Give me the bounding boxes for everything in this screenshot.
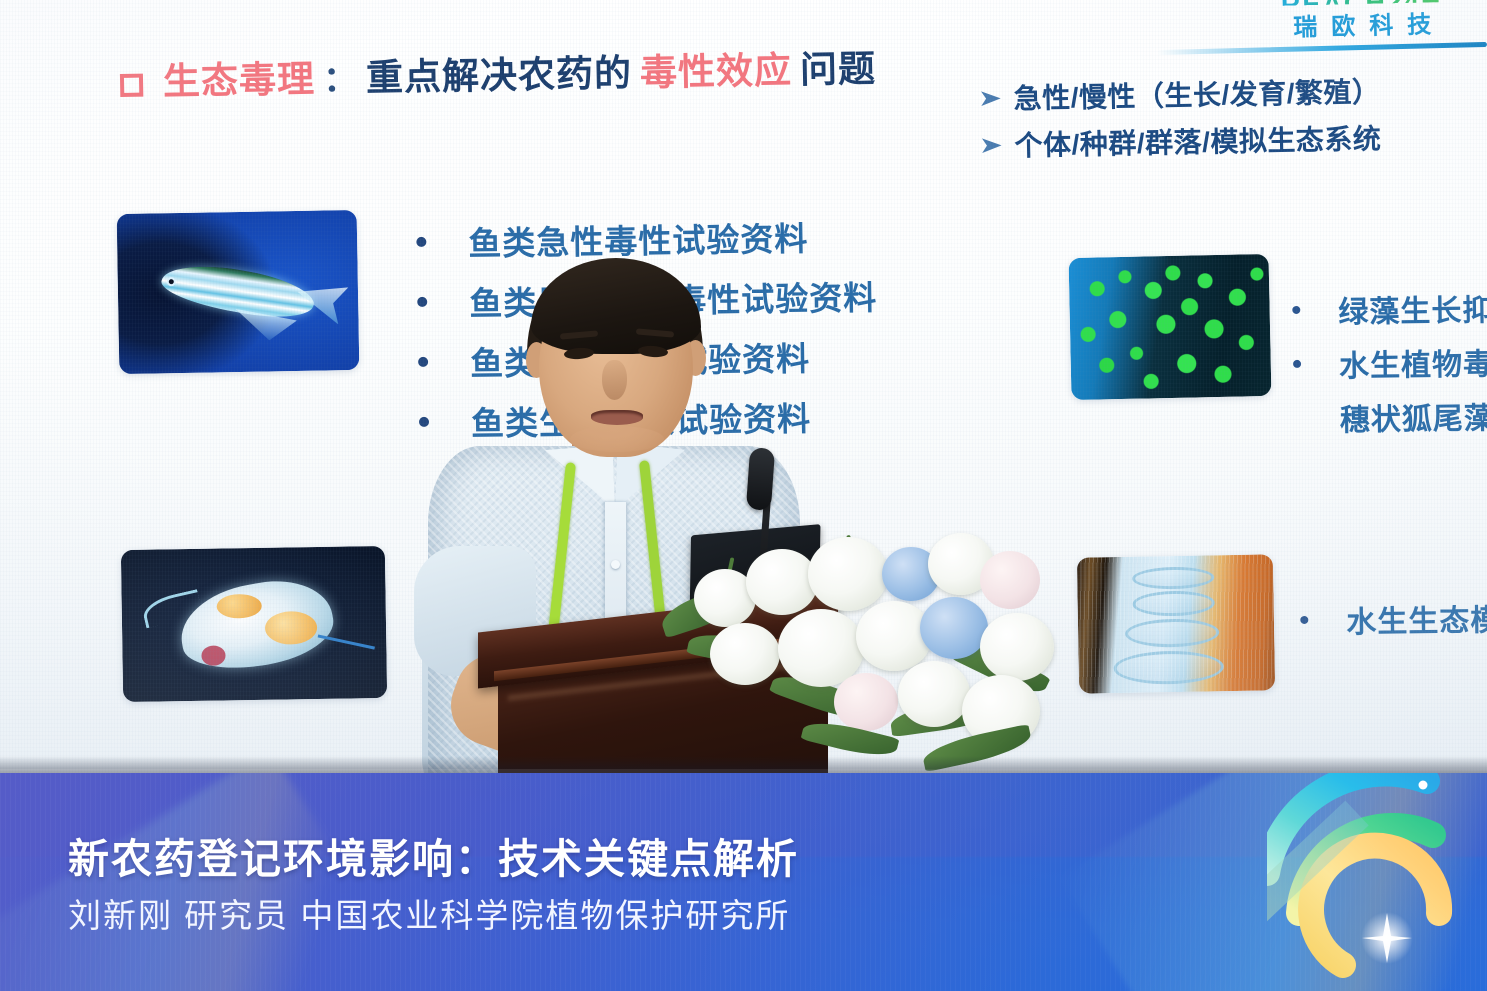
screen-scanline-overlay: [1077, 554, 1275, 693]
round-bullet-icon: [416, 237, 426, 247]
round-bullet-icon: [1300, 616, 1308, 624]
microphone-head-icon: [746, 447, 775, 511]
banner-subtitle: 刘新刚 研究员 中国农业科学院植物保护研究所: [68, 889, 790, 937]
flower-arrangement: [650, 505, 1070, 790]
list-item-label: 急性/慢性（生长/发育/繁殖）: [1013, 70, 1381, 117]
blue-flower: [920, 597, 988, 659]
aquatic-mesocosm-thumbnail: [1077, 554, 1275, 693]
arrow-bullet-icon: ➤: [979, 133, 1004, 156]
conference-presentation-screenshot: REACH24H 瑞欧科技 生态毒理 ： 重点解决农药的 毒性效应 问题 ➤ 急…: [0, 0, 1487, 991]
header-colon: ：: [323, 51, 359, 103]
slide-accent-rule: [1157, 42, 1487, 55]
square-bullet-icon: [120, 74, 143, 97]
daphnia-spine-shape: [318, 635, 375, 650]
mesocosm-photo: [1077, 554, 1275, 693]
white-flower: [746, 549, 818, 615]
algae-bullet-continuation: 穗状狐尾藻: [1294, 393, 1487, 440]
list-item: 绿藻生长抑: [1292, 285, 1487, 332]
arc-logo-svg: [1267, 773, 1487, 991]
logo-chinese-text: 瑞欧科技: [1279, 4, 1446, 43]
event-arc-logo: [1267, 773, 1487, 991]
banner-title: 新农药登记环境影响：技术关键点解析: [68, 825, 799, 885]
green-algae-photo: [1069, 254, 1272, 400]
list-item-label: 个体/种群/群落/模拟生态系统: [1014, 117, 1382, 164]
header-body-part2: 问题: [799, 38, 876, 93]
white-flower: [980, 613, 1054, 681]
green-algae-thumbnail: [1069, 254, 1272, 400]
list-item-label: 绿藻生长抑: [1338, 285, 1487, 331]
speaker-nose: [602, 360, 627, 400]
round-bullet-icon: [1293, 360, 1301, 368]
pink-flower: [980, 551, 1040, 609]
zebrafish-photo: [117, 210, 360, 374]
list-item-label: 水生生态模: [1346, 595, 1487, 641]
white-flower: [710, 623, 780, 685]
list-item: ➤ 个体/种群/群落/模拟生态系统: [981, 117, 1382, 165]
reach24h-logo: REACH24H 瑞欧科技: [1278, 0, 1445, 43]
header-body-highlight: 毒性效应: [639, 40, 792, 97]
daphnia-thumbnail: [121, 546, 387, 702]
zebrafish-thumbnail: [117, 210, 360, 374]
white-flower: [898, 661, 970, 727]
header-body-part1: 重点解决农药的: [365, 43, 632, 102]
algae-bullet-list: 绿藻生长抑 水生植物毒 穗状狐尾藻: [1292, 285, 1487, 440]
list-item: ➤ 急性/慢性（生长/发育/繁殖）: [980, 70, 1381, 118]
shirt-button: [611, 560, 620, 569]
slide-header: 生态毒理 ： 重点解决农药的 毒性效应 问题: [120, 38, 877, 106]
speaker-chin: [570, 426, 664, 452]
arrow-bullet-icon: ➤: [978, 86, 1003, 109]
banner-top-edge: [0, 769, 1487, 773]
header-topic-label: 生态毒理: [162, 48, 315, 105]
pink-flower: [834, 673, 898, 731]
list-item: 水生植物毒: [1293, 339, 1487, 386]
white-flower: [808, 537, 888, 611]
lower-third-banner: 新农药登记环境影响：技术关键点解析 刘新刚 研究员 中国农业科学院植物保护研究所: [0, 773, 1487, 991]
daphnia-photo: [121, 546, 387, 702]
list-item-label: 水生植物毒: [1339, 339, 1487, 385]
fish-body-shape: [159, 257, 317, 325]
aquatic-eco-bullet: 水生生态模: [1300, 595, 1487, 642]
speaker-mouth: [591, 410, 643, 425]
top-right-bullet-list: ➤ 急性/慢性（生长/发育/繁殖） ➤ 个体/种群/群落/模拟生态系统: [980, 70, 1382, 172]
round-bullet-icon: [1292, 306, 1300, 314]
speaker-hair: [531, 258, 701, 354]
